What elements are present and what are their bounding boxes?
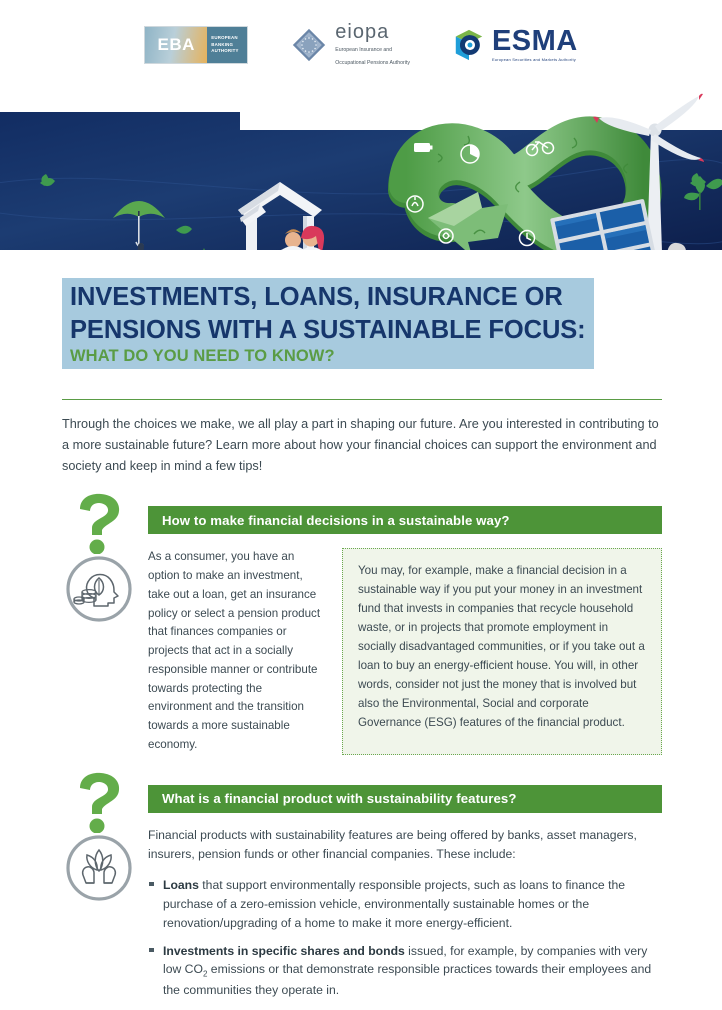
eiopa-subtitle-line2: Occupational Pensions Authority	[335, 59, 410, 68]
eiopa-acronym: eiopa	[335, 22, 410, 42]
question-mark-icon	[70, 492, 124, 554]
eba-name-line3: AUTHORITY	[211, 48, 247, 55]
section-financial-decisions: How to make financial decisions in a sus…	[62, 506, 662, 755]
intro-paragraph: Through the choices we make, we all play…	[62, 414, 662, 476]
list-item: Investments in specific shares and bonds…	[148, 942, 662, 1001]
example-callout-box: You may, for example, make a financial d…	[342, 548, 662, 755]
hero-artwork	[0, 90, 722, 250]
page-title-block: INVESTMENTS, LOANS, INSURANCE OR PENSION…	[62, 278, 594, 369]
section-body-financial-decisions: As a consumer, you have an option to mak…	[148, 548, 662, 755]
title-divider	[62, 399, 662, 400]
head-leaf-coins-icon	[64, 554, 134, 624]
page-title-line1: INVESTMENTS, LOANS, INSURANCE OR	[70, 281, 586, 314]
eba-acronym: EBA	[158, 35, 195, 55]
eiopa-logo: eiopa European Insurance and Occupationa…	[290, 22, 410, 68]
logo-bar: EBA EUROPEAN BANKING AUTHORITY	[0, 0, 722, 90]
page-subtitle: WHAT DO YOU NEED TO KNOW?	[70, 347, 586, 366]
section-left-text: As a consumer, you have an option to mak…	[148, 548, 326, 755]
factsheet-page: EBA EUROPEAN BANKING AUTHORITY	[0, 0, 722, 1010]
eiopa-logo-mark	[290, 26, 328, 64]
content-area: INVESTMENTS, LOANS, INSURANCE OR PENSION…	[0, 250, 722, 1010]
section-banner-sustainability-features: What is a financial product with sustain…	[148, 785, 662, 813]
esma-logo-text: ESMA European Securities and Markets Aut…	[492, 28, 578, 62]
eiopa-subtitle-line1: European Insurance and	[335, 46, 410, 55]
eba-name-line2: BANKING	[211, 42, 247, 49]
hands-plant-icon	[64, 833, 134, 903]
section-banner-financial-decisions: How to make financial decisions in a sus…	[148, 506, 662, 534]
eiopa-logo-text: eiopa European Insurance and Occupationa…	[335, 22, 410, 68]
bullet-bold-label: Loans	[163, 878, 199, 892]
eba-logo-text: EUROPEAN BANKING AUTHORITY	[207, 27, 247, 63]
section-sustainability-features: What is a financial product with sustain…	[62, 785, 662, 1010]
question-mark-icon	[70, 771, 124, 833]
eba-name-line1: EUROPEAN	[211, 35, 247, 42]
esma-logo: ESMA European Securities and Markets Aut…	[452, 28, 578, 62]
section-lead-text: Financial products with sustainability f…	[148, 826, 662, 865]
title-highlight: INVESTMENTS, LOANS, INSURANCE OR PENSION…	[62, 278, 594, 369]
esma-subtitle: European Securities and Markets Authorit…	[492, 57, 578, 62]
esma-logo-mark	[452, 28, 486, 62]
esma-acronym: ESMA	[492, 28, 578, 56]
eba-logo-mark: EBA	[145, 27, 207, 63]
page-title-line2: PENSIONS WITH A SUSTAINABLE FOCUS:	[70, 314, 586, 347]
bullet-text-cont: emissions or that demonstrate responsibl…	[163, 962, 651, 997]
list-item: Loans that support environmentally respo…	[148, 876, 662, 933]
hero-illustration	[0, 90, 722, 250]
eba-logo: EBA EUROPEAN BANKING AUTHORITY	[144, 26, 248, 64]
bullet-bold-label: Investments in specific shares and bonds	[163, 944, 405, 958]
bullet-text: that support environmentally responsible…	[163, 878, 625, 930]
product-list: Loans that support environmentally respo…	[148, 876, 662, 1010]
